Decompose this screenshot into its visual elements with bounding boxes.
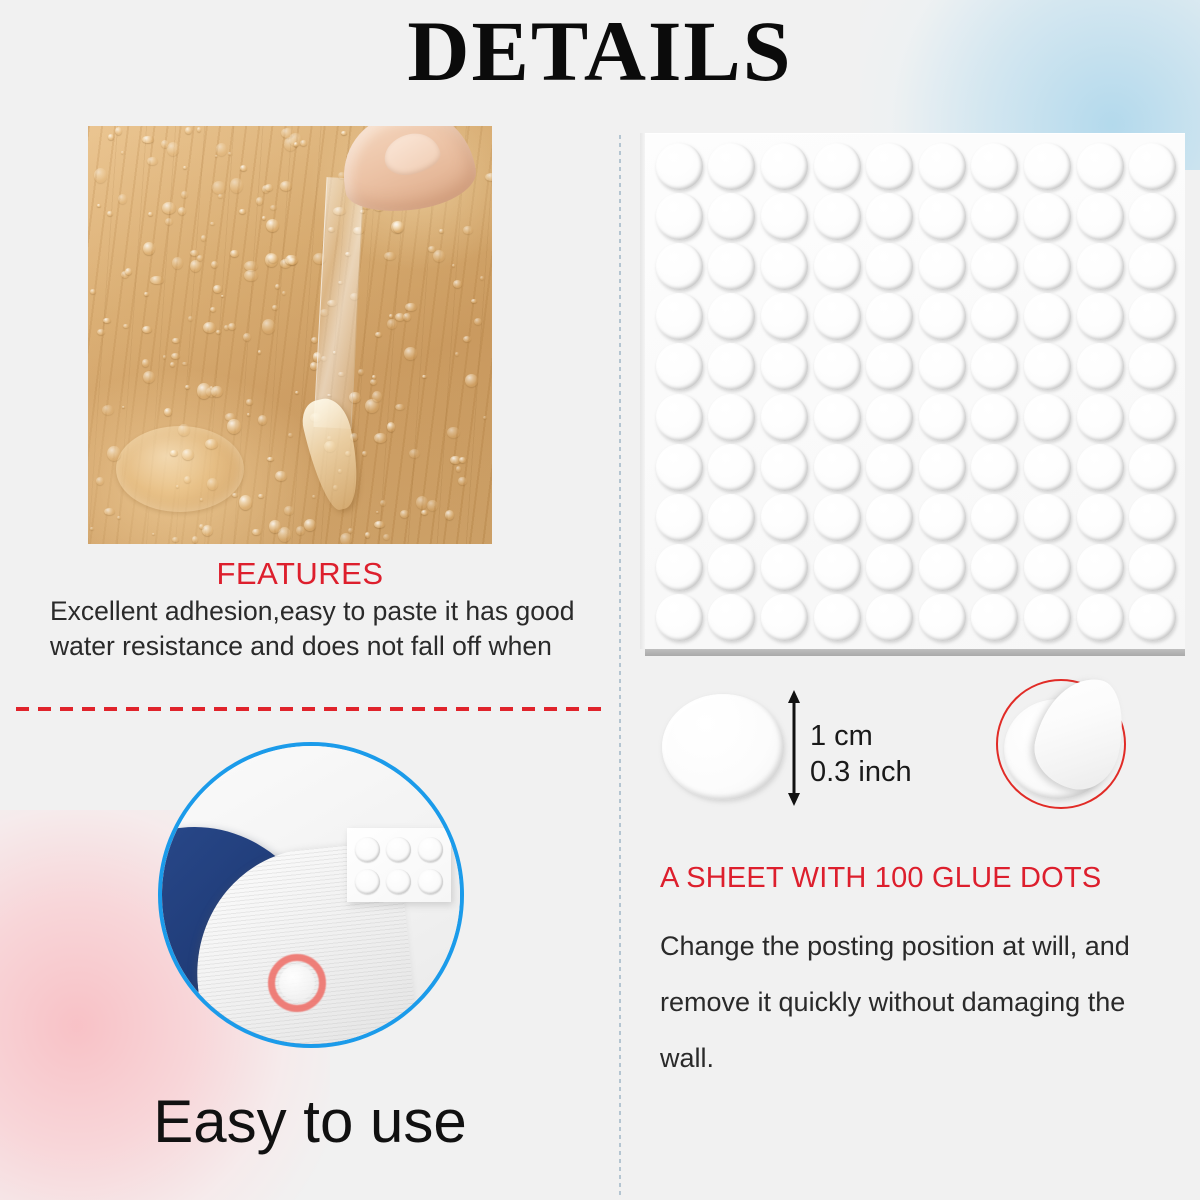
water-droplet — [230, 178, 243, 192]
water-droplet — [374, 521, 385, 528]
water-droplet — [230, 250, 239, 258]
glue-dot — [814, 193, 861, 240]
glue-dot — [971, 494, 1018, 541]
water-droplet — [296, 526, 305, 535]
glue-dot — [708, 343, 755, 390]
glue-dot — [1024, 594, 1071, 641]
glue-dot — [656, 594, 703, 641]
water-droplet — [172, 257, 183, 269]
water-droplet — [148, 212, 153, 217]
water-droplet — [284, 506, 294, 515]
water-droplet — [115, 127, 122, 135]
glue-dot — [1077, 293, 1124, 340]
glue-dot — [1077, 494, 1124, 541]
glue-dot — [866, 594, 913, 641]
glue-dot — [1129, 544, 1176, 591]
water-droplet — [439, 229, 444, 234]
glue-dot — [971, 243, 1018, 290]
water-droplet — [164, 408, 172, 416]
water-droplet — [172, 338, 180, 344]
water-droplet — [452, 264, 456, 268]
water-droplet — [445, 510, 454, 520]
glue-dot — [708, 193, 755, 240]
water-droplet — [365, 532, 370, 537]
water-droplet — [125, 268, 132, 275]
mini-glue-dot — [418, 837, 443, 862]
water-droplet — [239, 209, 246, 214]
water-droplet — [190, 260, 201, 272]
water-droplet — [90, 527, 94, 530]
glue-dot — [919, 494, 966, 541]
water-droplet — [275, 284, 280, 289]
glue-dot — [919, 394, 966, 441]
glue-dot — [1129, 143, 1176, 190]
water-droplet — [455, 352, 459, 357]
mini-glue-dot — [386, 837, 411, 862]
water-droplet — [224, 325, 229, 330]
mini-glue-dot — [355, 869, 380, 894]
glue-dot — [866, 343, 913, 390]
glue-dot — [1077, 394, 1124, 441]
glue-dot — [919, 444, 966, 491]
glue-dot — [866, 544, 913, 591]
water-droplet — [280, 181, 292, 191]
water-droplet — [252, 529, 261, 536]
water-droplet — [262, 216, 266, 221]
glue-dot — [866, 444, 913, 491]
glue-dot — [656, 143, 703, 190]
glue-dot — [656, 243, 703, 290]
water-droplet — [370, 379, 377, 385]
water-droplet — [96, 477, 104, 485]
horizontal-dashed-divider — [16, 707, 601, 711]
glue-dot — [1024, 243, 1071, 290]
glue-dot — [656, 193, 703, 240]
peel-detail-circle — [996, 679, 1126, 809]
water-droplet — [102, 405, 115, 415]
sheet-body-text: Change the posting position at will, and… — [660, 918, 1180, 1086]
glue-dot — [971, 444, 1018, 491]
glue-dot — [1024, 193, 1071, 240]
features-body-text: Excellent adhesion,easy to paste it has … — [50, 594, 590, 664]
water-droplet — [107, 446, 121, 461]
glue-dot — [1024, 143, 1071, 190]
water-droplet — [205, 439, 218, 449]
glue-dot — [656, 293, 703, 340]
usage-circle-photo — [158, 742, 464, 1048]
glue-dot — [656, 444, 703, 491]
glue-dot — [761, 594, 808, 641]
water-droplet — [143, 242, 156, 256]
glue-dot — [708, 243, 755, 290]
water-droplet — [272, 305, 279, 310]
glue-dot — [814, 293, 861, 340]
size-callout-text: 1 cm 0.3 inch — [810, 718, 912, 790]
glue-dot — [761, 494, 808, 541]
water-droplet — [427, 500, 438, 511]
glue-dot — [919, 293, 966, 340]
water-droplet — [265, 184, 272, 191]
water-droplet — [197, 127, 202, 132]
glue-dot — [656, 544, 703, 591]
water-droplet — [165, 218, 174, 225]
dimension-arrow-icon — [786, 690, 802, 806]
water-droplet — [258, 415, 268, 425]
water-droplet — [212, 181, 226, 194]
water-droplet — [117, 516, 121, 519]
glue-dot — [708, 444, 755, 491]
water-droplet — [200, 498, 204, 501]
water-droplet — [142, 136, 153, 143]
easy-to-use-label: Easy to use — [0, 1087, 620, 1156]
water-droplet — [453, 280, 462, 288]
water-droplet — [275, 471, 286, 482]
water-droplet — [170, 450, 179, 456]
water-droplet — [262, 319, 276, 334]
glue-dot — [761, 544, 808, 591]
page-title: DETAILS — [0, 8, 1200, 94]
water-droplet — [203, 322, 216, 333]
water-droplet — [143, 371, 155, 383]
glue-dot — [866, 143, 913, 190]
water-droplet — [216, 330, 221, 334]
water-droplet — [395, 313, 405, 321]
glue-dot — [1129, 243, 1176, 290]
glue-dot — [971, 193, 1018, 240]
glue-dot — [708, 594, 755, 641]
water-droplet — [421, 510, 428, 515]
glue-dot — [1077, 193, 1124, 240]
water-droplet — [459, 457, 465, 463]
water-droplet — [409, 449, 420, 458]
glue-dot — [919, 243, 966, 290]
water-droplet — [270, 205, 277, 210]
glue-dot — [971, 343, 1018, 390]
water-droplet — [485, 173, 492, 181]
glue-dot — [708, 293, 755, 340]
glue-dot — [971, 143, 1018, 190]
water-droplet — [239, 495, 253, 510]
water-droplet — [197, 255, 203, 260]
glue-dot — [866, 494, 913, 541]
product-detail-page: DETAILS FEATURES Excellent adhesion,easy… — [0, 0, 1200, 1200]
water-droplet — [228, 323, 236, 330]
water-droplet — [258, 494, 264, 499]
glue-dot — [1077, 143, 1124, 190]
water-droplet — [266, 219, 279, 232]
water-droplet — [288, 258, 297, 265]
water-droplet — [215, 155, 218, 157]
water-droplet — [207, 478, 218, 490]
glue-dot — [919, 143, 966, 190]
glue-dot — [971, 594, 1018, 641]
water-droplet — [176, 485, 180, 488]
water-droplet — [471, 299, 478, 303]
glue-dot — [814, 494, 861, 541]
water-droplet — [211, 261, 218, 269]
water-droplet — [247, 413, 251, 416]
water-droplet — [181, 191, 187, 198]
glue-dot — [866, 193, 913, 240]
water-droplet — [405, 303, 417, 312]
glue-dot — [971, 544, 1018, 591]
glue-dot — [814, 544, 861, 591]
glue-dot — [1024, 343, 1071, 390]
water-droplet — [422, 375, 427, 378]
water-droplet — [121, 151, 124, 154]
water-droplet — [480, 276, 485, 281]
glue-dot — [761, 293, 808, 340]
water-droplet — [269, 520, 281, 533]
glue-dot — [814, 143, 861, 190]
glue-dot — [814, 243, 861, 290]
sheet-heading: A SHEET WITH 100 GLUE DOTS — [660, 862, 1101, 895]
glue-dot — [1077, 544, 1124, 591]
water-droplet — [216, 143, 228, 156]
water-droplet — [210, 307, 216, 312]
glue-dot — [761, 444, 808, 491]
water-droplet — [162, 202, 176, 214]
glue-dot — [919, 343, 966, 390]
mini-glue-dot-sheet — [347, 828, 451, 902]
size-metric: 1 cm — [810, 718, 912, 754]
water-droplet — [232, 493, 238, 497]
water-droplet — [171, 353, 180, 360]
glue-dot — [1024, 293, 1071, 340]
features-heading: FEATURES — [0, 556, 600, 592]
water-droplet — [244, 270, 257, 281]
water-droplet — [375, 332, 382, 337]
glue-dot — [1129, 193, 1176, 240]
water-droplet — [389, 314, 393, 318]
water-droplet — [142, 359, 149, 366]
water-droplet — [185, 127, 192, 135]
water-droplet — [474, 318, 482, 325]
glue-dot — [708, 394, 755, 441]
glue-dot — [1024, 544, 1071, 591]
water-droplet — [456, 466, 461, 472]
water-droplet — [97, 329, 105, 335]
water-droplet — [178, 424, 191, 437]
water-droplet — [395, 404, 405, 410]
glue-dot — [814, 444, 861, 491]
glue-dot — [866, 243, 913, 290]
glue-dot — [708, 494, 755, 541]
water-droplet — [380, 500, 386, 506]
glue-dot — [866, 293, 913, 340]
water-droplet — [374, 433, 387, 443]
glue-dot — [1077, 594, 1124, 641]
glue-dot — [919, 594, 966, 641]
water-droplet — [221, 295, 224, 297]
water-droplet — [240, 165, 248, 171]
single-glue-dot-sample — [662, 694, 784, 800]
wet-wood-photo — [88, 126, 492, 544]
water-droplet — [372, 391, 382, 402]
water-droplet — [178, 207, 186, 215]
water-droplet — [183, 166, 187, 170]
mini-glue-dot — [355, 837, 380, 862]
water-droplet — [312, 495, 316, 499]
water-droplet — [340, 533, 352, 545]
water-droplet — [123, 324, 129, 329]
water-droplet — [387, 319, 396, 329]
water-droplet — [288, 433, 293, 437]
glue-dot — [761, 394, 808, 441]
water-droplet — [147, 157, 158, 166]
glue-dot — [1129, 594, 1176, 641]
glue-dot — [761, 243, 808, 290]
glue-dot — [1024, 444, 1071, 491]
mini-glue-dot — [418, 869, 443, 894]
glue-dot — [656, 343, 703, 390]
water-droplet — [393, 221, 405, 233]
water-droplet — [304, 519, 316, 531]
glue-dot — [1129, 494, 1176, 541]
water-droplet — [295, 391, 299, 394]
glue-dot — [1129, 444, 1176, 491]
glue-dot — [761, 193, 808, 240]
water-droplet — [150, 276, 163, 284]
glue-dot — [761, 143, 808, 190]
water-droplet — [447, 427, 460, 439]
water-droplet — [433, 250, 445, 262]
water-droplet — [256, 197, 263, 205]
water-droplet — [246, 399, 253, 405]
water-droplet — [97, 204, 101, 206]
water-droplet — [122, 406, 126, 408]
water-droplet — [103, 318, 111, 324]
water-droplet — [170, 362, 175, 367]
glue-dot — [919, 193, 966, 240]
water-droplet — [142, 326, 153, 333]
water-droplet — [144, 292, 148, 296]
water-droplet — [192, 536, 198, 543]
glue-dot — [1077, 444, 1124, 491]
water-droplet — [362, 451, 367, 455]
water-droplet — [90, 289, 97, 294]
glue-dot — [814, 594, 861, 641]
highlighted-glue-dot-ring — [268, 954, 326, 1012]
glue-dot — [1129, 394, 1176, 441]
vertical-dotted-divider — [619, 135, 621, 1195]
water-droplet — [348, 528, 353, 533]
water-droplet — [416, 496, 428, 509]
glue-dot — [1024, 494, 1071, 541]
glue-dot — [866, 394, 913, 441]
glue-dot — [1129, 343, 1176, 390]
water-droplet — [118, 194, 127, 203]
water-droplet — [182, 449, 195, 460]
water-droplet — [294, 142, 298, 147]
water-droplet — [267, 457, 274, 461]
water-droplet — [184, 476, 191, 483]
glue-dot — [919, 544, 966, 591]
water-droplet — [107, 211, 113, 217]
water-droplet — [463, 336, 471, 342]
glue-dot — [656, 394, 703, 441]
glue-dot — [814, 394, 861, 441]
water-droplet — [404, 347, 417, 361]
water-droplet — [463, 226, 473, 235]
water-droplet — [210, 222, 215, 226]
glue-dot — [708, 143, 755, 190]
glue-dot — [971, 394, 1018, 441]
water-droplet — [108, 134, 114, 139]
water-droplet — [465, 374, 478, 387]
water-droplet — [197, 383, 211, 398]
glue-dot — [1077, 243, 1124, 290]
glue-dot — [1129, 293, 1176, 340]
water-droplet — [483, 416, 488, 420]
water-droplet — [387, 422, 395, 431]
water-droplet — [258, 350, 262, 354]
water-droplet — [458, 477, 466, 486]
water-droplet — [376, 511, 379, 513]
water-droplet — [94, 168, 108, 183]
water-droplet — [282, 291, 286, 295]
water-droplet — [243, 333, 251, 341]
water-droplet — [218, 194, 222, 198]
water-droplet — [167, 142, 179, 156]
size-imperial: 0.3 inch — [810, 754, 912, 790]
water-droplet — [372, 375, 377, 379]
water-droplet — [400, 510, 409, 518]
glue-dot — [814, 343, 861, 390]
mini-glue-dot — [386, 869, 411, 894]
water-droplet — [341, 131, 347, 135]
water-droplet — [201, 235, 206, 240]
water-droplet — [185, 385, 190, 389]
water-droplet — [384, 252, 397, 261]
glue-dot — [708, 544, 755, 591]
water-droplet — [163, 355, 166, 359]
water-droplet — [228, 152, 232, 155]
glue-dot — [1077, 343, 1124, 390]
water-droplet — [213, 285, 221, 293]
water-droplet — [383, 534, 390, 541]
glue-dot — [761, 343, 808, 390]
glue-dot — [656, 494, 703, 541]
glue-dot — [1024, 394, 1071, 441]
water-droplet — [104, 508, 116, 515]
glue-dot — [971, 293, 1018, 340]
water-droplet — [188, 316, 193, 321]
water-droplet — [358, 369, 364, 376]
water-droplet — [182, 362, 188, 366]
water-droplet — [227, 419, 241, 433]
water-droplet — [152, 533, 155, 535]
water-droplet — [172, 537, 179, 542]
glue-dot-sheet — [645, 133, 1185, 649]
